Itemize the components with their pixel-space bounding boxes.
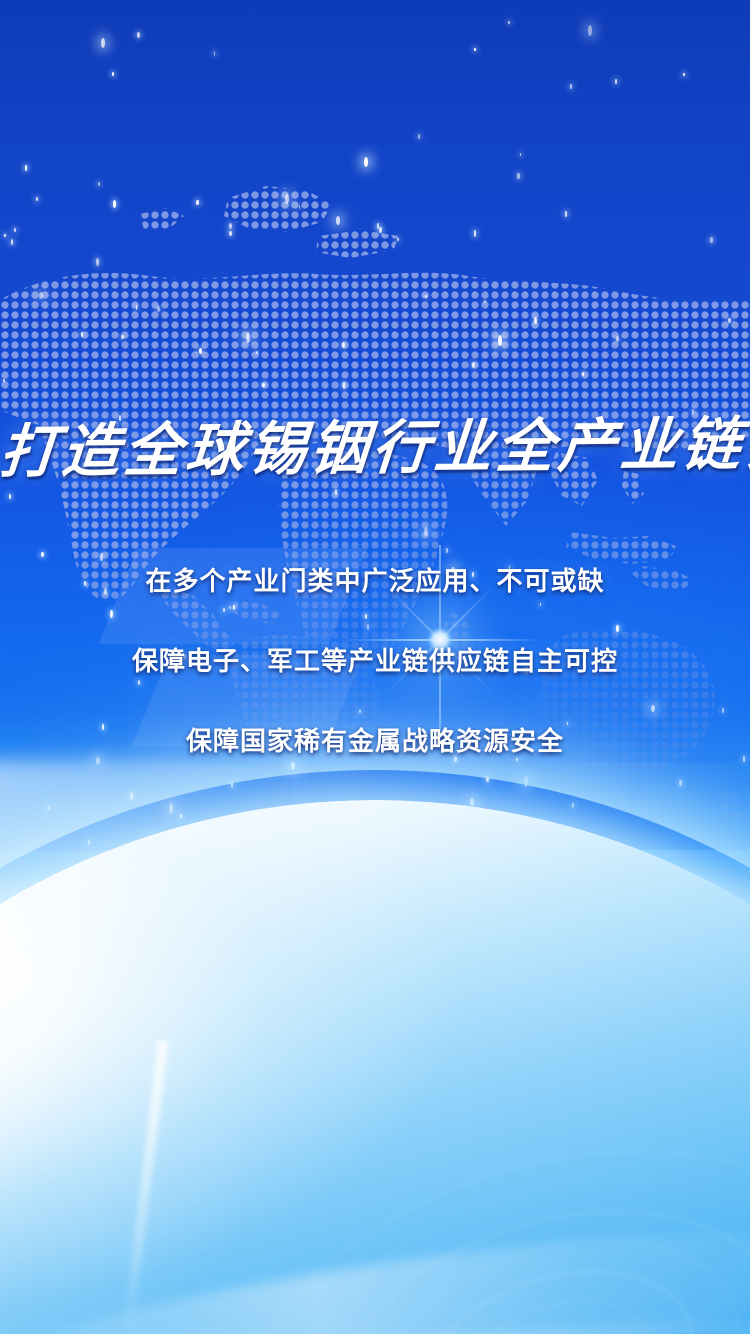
- subtitle-line-3: 保障国家稀有金属战略资源安全: [0, 721, 750, 758]
- poster-text-content: 打造全球锡铟行业全产业链链主 在多个产业门类中广泛应用、不可或缺 保障电子、军工…: [0, 0, 750, 1334]
- page-title: 打造全球锡铟行业全产业链链主: [0, 414, 750, 483]
- subtitle-line-1: 在多个产业门类中广泛应用、不可或缺: [0, 561, 750, 598]
- subtitle-line-2: 保障电子、军工等产业链供应链自主可控: [0, 641, 750, 678]
- poster-canvas: 打造全球锡铟行业全产业链链主 在多个产业门类中广泛应用、不可或缺 保障电子、军工…: [0, 0, 750, 1334]
